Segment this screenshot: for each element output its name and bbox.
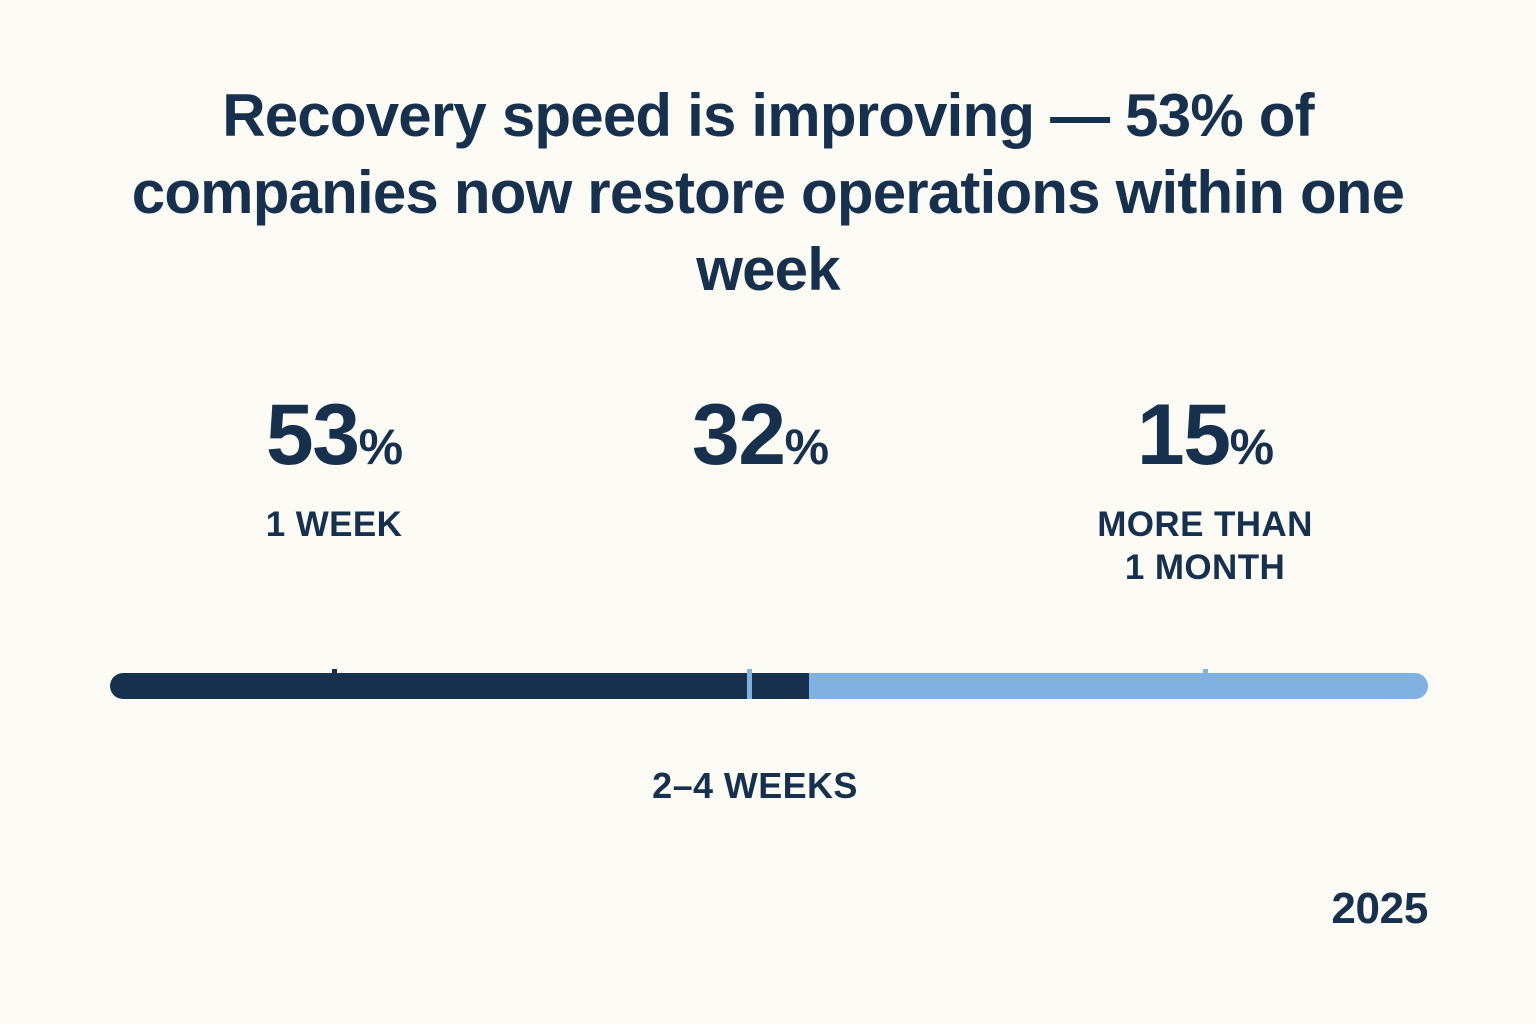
stat-label-line-1: MORE THAN [1097,505,1313,544]
timeline-bar-fill-one-week [110,673,809,699]
percent-symbol-two-to-four-weeks: % [785,419,828,475]
stat-value-one-week: 53% [266,392,403,478]
tick-mark-two-to-four-weeks [747,669,752,699]
percent-symbol-one-week: % [359,419,402,475]
stat-label-two-to-four-weeks: 2–4 WEEKS [652,765,858,807]
stat-number-two-to-four-weeks: 32 [692,387,785,483]
stat-value-more-than-one-month: 15% [1097,392,1313,478]
stat-block-more-than-one-month: 15% MORE THAN 1 MONTH [1097,392,1313,589]
stat-label-more-than-one-month: MORE THAN 1 MONTH [1097,504,1313,589]
stat-label-one-week: 1 WEEK [266,504,403,547]
percent-symbol-more-than-one-month: % [1230,419,1273,475]
stat-label-line-2: 1 MONTH [1125,548,1285,587]
infographic-canvas: Recovery speed is improving — 53% of com… [0,0,1536,1024]
stat-value-two-to-four-weeks: 32% [692,392,828,478]
stat-block-two-to-four-weeks: 32% [692,392,828,478]
year-label: 2025 [1331,884,1428,934]
timeline-bar-track [110,673,1428,699]
stat-number-more-than-one-month: 15 [1137,387,1230,483]
tick-mark-one-week [332,669,337,699]
stat-number-one-week: 53 [266,387,359,483]
page-title: Recovery speed is improving — 53% of com… [128,78,1408,308]
stat-block-one-week: 53% 1 WEEK [266,392,403,547]
tick-mark-more-than-one-month [1203,669,1208,699]
